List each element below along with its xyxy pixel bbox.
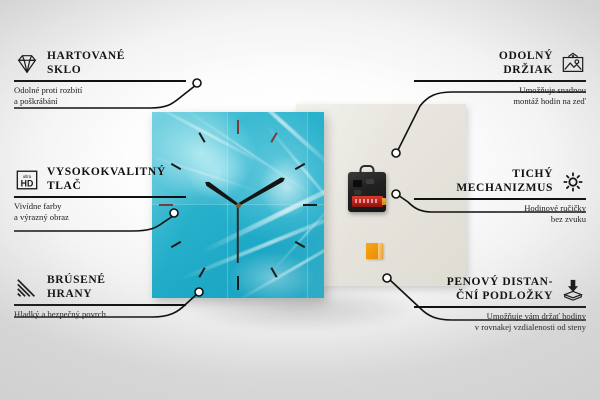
clock-tick — [303, 204, 317, 206]
feature-ground-edges: BRÚSENÉ HRANY Hladký a bezpečný povrch — [14, 274, 186, 320]
feature-title: VYSOKOKVALITNÝ TLAČ — [47, 166, 166, 193]
feature-silent-mechanism: TICHÝ MECHANIZMUS Hodinové ručičky bez z… — [414, 168, 586, 225]
feature-divider — [14, 304, 186, 306]
battery-label — [355, 199, 377, 203]
clock-second-hand — [237, 205, 239, 263]
feature-description: Hladký a bezpečný povrch — [14, 309, 186, 320]
feature-title: TICHÝ MECHANIZMUS — [456, 168, 553, 195]
mechanism-detail — [354, 190, 361, 195]
clock-tick — [237, 120, 239, 134]
clock-mechanism — [348, 172, 386, 212]
feature-divider — [414, 80, 586, 82]
clock-center-pin — [236, 203, 241, 208]
feature-description: Umožňuje vám držať hodiny v rovnakej vzd… — [414, 311, 586, 333]
feature-divider — [14, 80, 186, 82]
foam-spacer-pad — [366, 243, 383, 259]
mechanism-detail — [366, 179, 374, 184]
connector-dot-tempered-glass — [193, 79, 201, 87]
feature-title: PENOVÝ DISTAN- ČNÍ PODLOŽKY — [447, 276, 553, 303]
battery — [352, 196, 383, 207]
feature-description: Hodinové ručičky bez zvuku — [414, 203, 586, 225]
mechanism-hook — [360, 165, 375, 174]
feature-high-quality-print: ultra HD VYSOKOKVALITNÝ TLAČ Vivídne far… — [14, 166, 186, 223]
mechanism-detail — [353, 180, 362, 187]
feature-header: HARTOVANÉ SKLO — [14, 50, 186, 77]
ground-edges-icon — [14, 276, 40, 300]
feature-description: Umožňuje snadnou montáž hodin na zeď — [414, 85, 586, 107]
feature-title: HARTOVANÉ SKLO — [47, 50, 125, 77]
feature-description: Odolné proti rozbití a poškrábání — [14, 85, 186, 107]
feature-title: BRÚSENÉ HRANY — [47, 274, 106, 301]
feature-title: ODOLNÝ DRŽIAK — [499, 50, 553, 77]
feature-header: TICHÝ MECHANIZMUS — [414, 168, 586, 195]
feature-divider — [14, 196, 186, 198]
feature-header: PENOVÝ DISTAN- ČNÍ PODLOŽKY — [414, 276, 586, 303]
clock-tick — [237, 276, 239, 290]
svg-text:HD: HD — [21, 178, 34, 188]
feature-foam-spacers: PENOVÝ DISTAN- ČNÍ PODLOŽKY Umožňuje vám… — [414, 276, 586, 333]
press-pad-icon — [560, 278, 586, 302]
feature-header: ultra HD VYSOKOKVALITNÝ TLAČ — [14, 166, 186, 193]
gear-icon — [560, 170, 586, 194]
feature-header: ODOLNÝ DRŽIAK — [414, 50, 586, 77]
feature-header: BRÚSENÉ HRANY — [14, 274, 186, 301]
feature-divider — [414, 198, 586, 200]
diamond-icon — [14, 52, 40, 76]
feature-description: Vivídne farby a výrazný obraz — [14, 201, 186, 223]
picture-hanger-icon — [560, 52, 586, 76]
infographic-stage: HARTOVANÉ SKLO Odolné proti rozbití a po… — [0, 0, 600, 400]
ultra-hd-icon: ultra HD — [14, 168, 40, 192]
feature-divider — [414, 306, 586, 308]
feature-tempered-glass: HARTOVANÉ SKLO Odolné proti rozbití a po… — [14, 50, 186, 107]
feature-durable-hanger: ODOLNÝ DRŽIAK Umožňuje snadnou montáž ho… — [414, 50, 586, 107]
